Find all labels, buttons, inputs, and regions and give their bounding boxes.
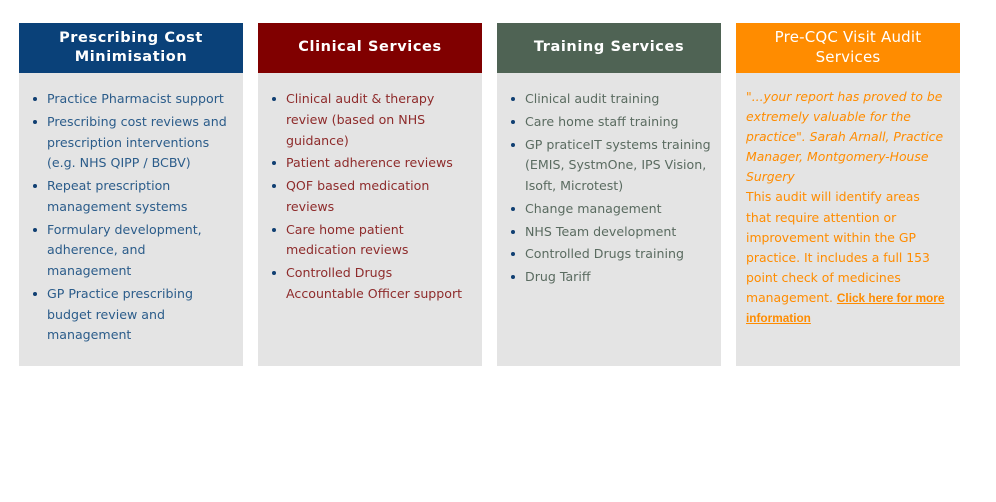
list-item: Drug Tariff	[507, 267, 711, 288]
list-item: Formulary development, adherence, and ma…	[29, 220, 233, 282]
panel-title-pre-cqc-visit-audit-services: Pre-CQC Visit Audit Services	[736, 23, 960, 73]
panel-title-prescribing-cost-minimisation: Prescribing Cost Minimisation	[19, 23, 243, 73]
list-item: NHS Team development	[507, 222, 711, 243]
panel-body-training-services: Clinical audit training Care home staff …	[497, 73, 721, 366]
service-list-training: Clinical audit training Care home staff …	[507, 89, 711, 288]
list-item: GP Practice prescribing budget review an…	[29, 284, 233, 346]
panel-title-clinical-services: Clinical Services	[258, 23, 482, 73]
panel-pre-cqc-visit-audit-services: Pre-CQC Visit Audit Services "...your re…	[736, 23, 960, 366]
panel-body-pre-cqc-visit-audit-services: "...your report has proved to be extreme…	[736, 73, 960, 366]
list-item: Practice Pharmacist support	[29, 89, 233, 110]
list-item: Clinical audit training	[507, 89, 711, 110]
service-list-prescribing: Practice Pharmacist support Prescribing …	[29, 89, 233, 346]
list-item: Clinical audit & therapy review (based o…	[268, 89, 472, 151]
list-item: QOF based medication reviews	[268, 176, 472, 218]
list-item: Repeat prescription management systems	[29, 176, 233, 218]
panel-clinical-services: Clinical Services Clinical audit & thera…	[258, 23, 482, 366]
list-item: Prescribing cost reviews and prescriptio…	[29, 112, 233, 174]
audit-description: This audit will identify areas that requ…	[746, 187, 948, 328]
panel-body-clinical-services: Clinical audit & therapy review (based o…	[258, 73, 482, 366]
list-item: Care home patient medication reviews	[268, 220, 472, 262]
list-item: Controlled Drugs training	[507, 244, 711, 265]
list-item: GP praticeIT systems training (EMIS, Sys…	[507, 135, 711, 197]
list-item: Care home staff training	[507, 112, 711, 133]
list-item: Controlled Drugs Accountable Officer sup…	[268, 263, 472, 305]
list-item: Change management	[507, 199, 711, 220]
panel-title-training-services: Training Services	[497, 23, 721, 73]
service-panels-row: Prescribing Cost Minimisation Practice P…	[19, 23, 960, 366]
list-item: Patient adherence reviews	[268, 153, 472, 174]
audit-description-text: This audit will identify areas that requ…	[746, 189, 930, 304]
testimonial-quote: "...your report has proved to be extreme…	[746, 87, 948, 187]
panel-prescribing-cost-minimisation: Prescribing Cost Minimisation Practice P…	[19, 23, 243, 366]
panel-body-prescribing-cost-minimisation: Practice Pharmacist support Prescribing …	[19, 73, 243, 366]
service-list-clinical: Clinical audit & therapy review (based o…	[268, 89, 472, 305]
panel-training-services: Training Services Clinical audit trainin…	[497, 23, 721, 366]
